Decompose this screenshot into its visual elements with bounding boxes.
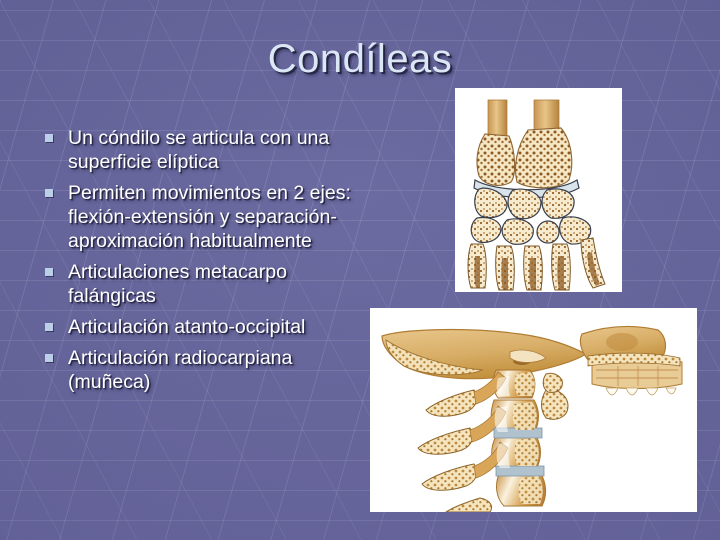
list-item: Articulaciones metacarpo falángicas — [36, 260, 372, 308]
image-skull-base-cervical-spine-sagittal — [370, 308, 697, 512]
list-item-text: Permiten movimientos en 2 ejes: flexión-… — [68, 182, 351, 252]
list-item: Articulación atanto-occipital — [36, 315, 372, 339]
bullet-square-icon — [45, 268, 53, 276]
list-item-text: Articulación atanto-occipital — [68, 316, 305, 338]
slide-title: Condíleas — [0, 36, 720, 82]
list-item-text: Articulaciones metacarpo falángicas — [68, 261, 287, 307]
bullet-square-icon — [45, 354, 53, 362]
list-item: Un cóndilo se articula con una superfici… — [36, 126, 372, 174]
bullet-square-icon — [45, 323, 53, 331]
cervical-spine-illustration — [370, 308, 697, 512]
bullet-list: Un cóndilo se articula con una superfici… — [36, 126, 372, 401]
list-item: Permiten movimientos en 2 ejes: flexión-… — [36, 181, 372, 253]
wrist-illustration — [455, 88, 622, 292]
bullet-square-icon — [45, 134, 53, 142]
bullet-square-icon — [45, 189, 53, 197]
list-item-text: Articulación radiocarpiana (muñeca) — [68, 347, 292, 393]
list-item-text: Un cóndilo se articula con una superfici… — [68, 127, 329, 173]
list-item: Articulación radiocarpiana (muñeca) — [36, 346, 372, 394]
image-wrist-bone-cross-section — [455, 88, 622, 292]
slide: Condíleas Un cóndilo se articula con una… — [0, 0, 720, 540]
